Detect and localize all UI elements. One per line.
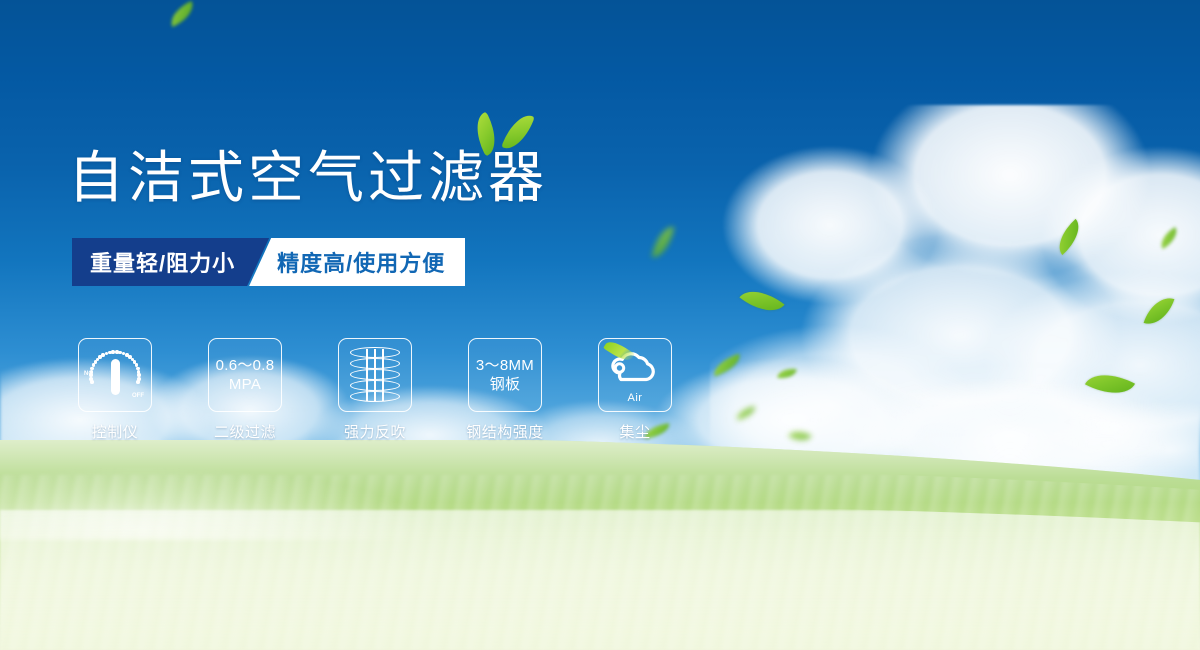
feature-label: 集尘 xyxy=(619,421,650,442)
feature-icon-box: 3～8MM 钢板 xyxy=(468,338,542,412)
feature-item-steel[interactable]: 3～8MM 钢板 钢结构强度 xyxy=(468,338,542,442)
subtitle-left-segment: 重量轻/阻力小 xyxy=(72,238,269,286)
dial-tick xyxy=(90,370,94,374)
dial-tick xyxy=(136,380,140,384)
floating-leaf xyxy=(735,406,757,420)
feature-label: 强力反吹 xyxy=(344,421,406,442)
dial-tick xyxy=(89,377,93,381)
feature-icon-box: NO OFF xyxy=(78,338,152,412)
floating-leaf xyxy=(711,354,744,377)
feature-item-backwash[interactable]: 强力反吹 xyxy=(338,338,412,442)
floating-leaf xyxy=(739,280,784,322)
steel-plate-icon: 3～8MM 钢板 xyxy=(476,356,534,394)
dial-tick xyxy=(90,380,94,384)
dial-needle xyxy=(111,359,120,395)
floating-leaf xyxy=(1156,227,1181,249)
feature-icon-box xyxy=(338,338,412,412)
feature-label: 控制仪 xyxy=(92,421,139,442)
air-cloud-icon: Air xyxy=(606,349,664,401)
floating-leaf xyxy=(652,224,675,261)
control-dial-icon: NO OFF xyxy=(84,344,146,406)
feature-item-dust[interactable]: Air 集尘 xyxy=(598,338,672,442)
floating-leaf xyxy=(1050,219,1087,255)
dial-tick xyxy=(89,373,93,377)
floating-leaf xyxy=(777,367,796,380)
feature-item-control[interactable]: NO OFF 控制仪 xyxy=(78,338,152,442)
grass-texture xyxy=(0,475,1200,650)
floating-leaf xyxy=(1085,363,1135,405)
feature-label: 二级过滤 xyxy=(214,421,276,442)
filter-coil-icon xyxy=(348,346,402,404)
feature-label: 钢结构强度 xyxy=(466,421,544,442)
product-banner: 自洁式空气过滤器 重量轻/阻力小 精度高/使用方便 NO OFF 控制仪 0.6… xyxy=(0,0,1200,650)
page-title: 自洁式空气过滤器 xyxy=(68,143,548,213)
dial-off-label: OFF xyxy=(132,393,144,399)
floating-leaf xyxy=(1144,292,1175,329)
feature-icon-box: 0.6～0.8 MPA xyxy=(208,338,282,412)
feature-item-pressure[interactable]: 0.6～0.8 MPA 二级过滤 xyxy=(208,338,282,442)
feature-list: NO OFF 控制仪 0.6～0.8 MPA 二级过滤 xyxy=(78,338,672,442)
dial-tick xyxy=(90,367,94,371)
floating-leaf xyxy=(166,1,198,27)
air-label: Air xyxy=(606,392,664,404)
floating-leaf xyxy=(788,426,811,446)
subtitle-right-segment: 精度高/使用方便 xyxy=(249,238,465,286)
feature-icon-box: Air xyxy=(598,338,672,412)
subtitle-bar: 重量轻/阻力小 精度高/使用方便 xyxy=(72,238,465,286)
pressure-text-icon: 0.6～0.8 MPA xyxy=(216,356,275,394)
